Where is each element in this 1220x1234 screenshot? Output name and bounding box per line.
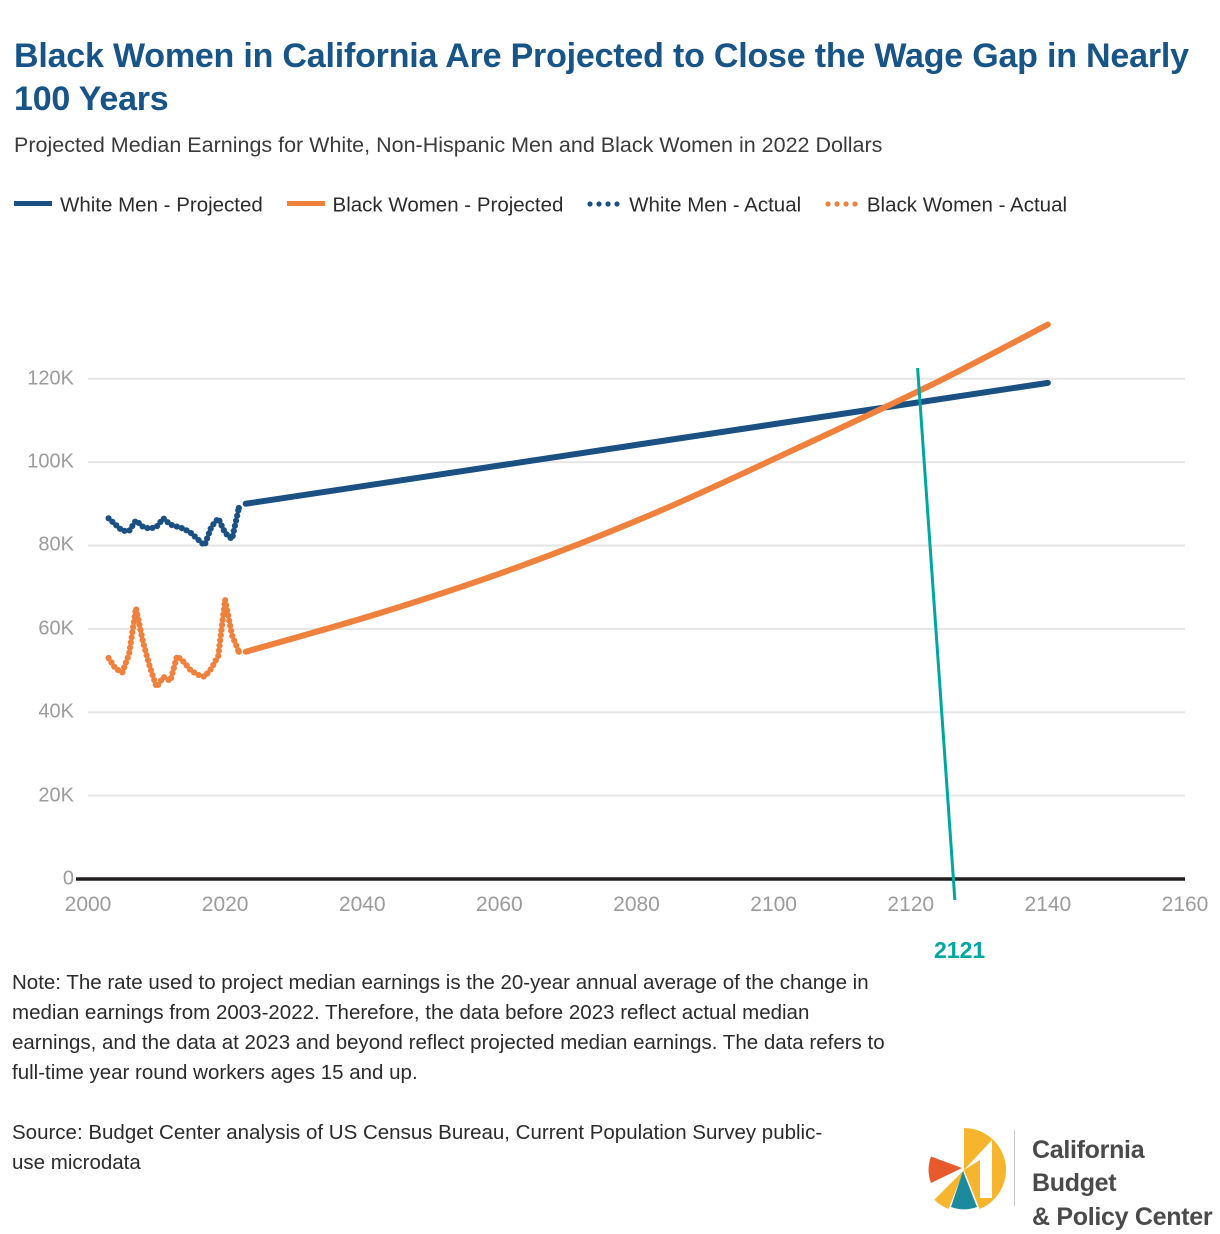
x-axis-tick-label: 2140	[1025, 893, 1072, 917]
chart-page: Black Women in California Are Projected …	[0, 0, 1220, 1228]
legend-item-white-men-actual[interactable]: White Men - Actual	[587, 193, 807, 216]
legend-swatch-dotted-line-icon	[587, 201, 621, 207]
y-axis-tick-label: 60K	[0, 617, 74, 640]
data-point	[136, 622, 142, 628]
chart-subtitle: Projected Median Earnings for White, Non…	[14, 132, 1210, 159]
series-white-men-projected	[246, 383, 1048, 504]
y-axis-tick-label: 100K	[0, 451, 74, 474]
x-axis-tick-label: 2000	[65, 893, 112, 917]
series-white-men-actual	[105, 505, 241, 547]
x-axis-tick-label: 2060	[476, 893, 523, 917]
logo-wordmark: California Budget & Policy Center	[1032, 1134, 1214, 1234]
legend-swatch-dotted-line-icon	[825, 201, 859, 207]
legend-item-white-men-projected[interactable]: White Men - Projected	[14, 193, 269, 216]
y-axis-tick-label: 120K	[0, 367, 74, 390]
organization-logo: California Budget & Policy Center	[918, 1122, 1214, 1218]
data-point	[223, 602, 229, 608]
data-point	[138, 632, 144, 638]
y-axis-tick-label: 0	[0, 868, 74, 891]
chart-svg	[0, 300, 1220, 900]
legend-item-black-women-actual[interactable]: Black Women - Actual	[825, 193, 1067, 216]
annotation-label-2121: 2121	[934, 937, 985, 964]
data-point	[225, 612, 231, 618]
logo-divider	[1014, 1130, 1015, 1206]
data-point	[227, 623, 233, 629]
chart-source: Source: Budget Center analysis of US Cen…	[12, 1118, 852, 1178]
data-point	[236, 505, 242, 511]
x-axis-tick-label: 2080	[613, 893, 660, 917]
data-point	[135, 617, 141, 623]
legend-swatch-solid-line-icon	[287, 201, 325, 206]
y-axis-tick-label: 20K	[0, 784, 74, 807]
logo-line-2: & Policy Center	[1032, 1201, 1214, 1234]
y-axis-tick-label: 40K	[0, 701, 74, 724]
x-axis-tick-label: 2040	[339, 893, 386, 917]
data-point	[236, 649, 242, 655]
budget-center-mark-icon	[918, 1124, 1010, 1221]
x-axis-tick-label: 2020	[202, 893, 249, 917]
chart-legend: White Men - Projected Black Women - Proj…	[14, 190, 1209, 220]
annotation-leader-line	[918, 368, 957, 900]
data-point	[134, 612, 140, 618]
legend-swatch-solid-line-icon	[14, 201, 52, 206]
x-axis-tick-label: 2120	[887, 893, 934, 917]
series-line	[246, 383, 1048, 504]
legend-item-black-women-projected[interactable]: Black Women - Projected	[287, 193, 570, 216]
logo-line-1: California Budget	[1032, 1134, 1214, 1201]
legend-label: Black Women - Projected	[333, 194, 564, 217]
chart-plot-area: 020K40K60K80K100K120K2000202020402060208…	[0, 300, 1220, 900]
y-axis-tick-label: 80K	[0, 534, 74, 557]
legend-label: Black Women - Actual	[867, 194, 1067, 217]
legend-label: White Men - Actual	[629, 194, 801, 217]
data-point	[137, 627, 143, 633]
data-point	[133, 606, 139, 612]
legend-label: White Men - Projected	[60, 194, 263, 217]
page-title: Black Women in California Are Projected …	[14, 35, 1204, 122]
series-black-women-actual	[105, 597, 241, 688]
chart-note: Note: The rate used to project median ea…	[12, 968, 892, 1088]
x-axis-tick-label: 2160	[1162, 893, 1209, 917]
x-axis-tick-label: 2100	[750, 893, 797, 917]
